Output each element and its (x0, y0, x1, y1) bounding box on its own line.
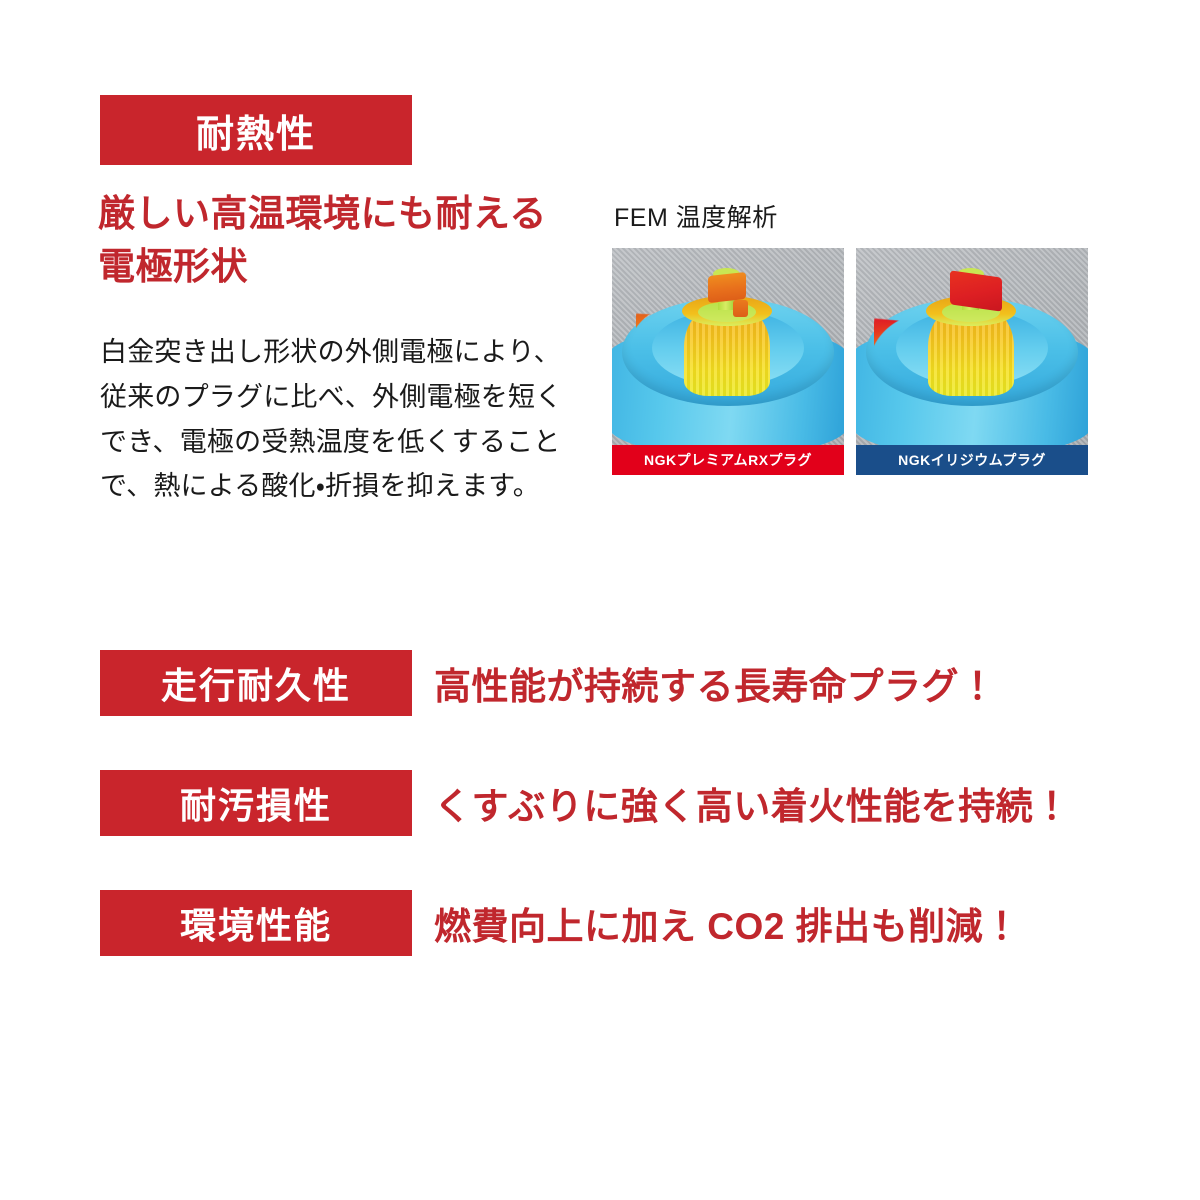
badge-heat-resistance: 耐熱性 (100, 95, 412, 165)
electrode-tip (950, 270, 1002, 311)
fem-caption-rx: NGKプレミアムRXプラグ (612, 445, 844, 475)
fem-title: FEM 温度解析 (614, 198, 1087, 234)
feature-text-0: 高性能が持続する長寿命プラグ！ (434, 656, 997, 710)
feature-row: 環境性能燃費向上に加え CO2 排出も削減！ (100, 890, 1100, 956)
feature-text-1: くすぶりに強く高い着火性能を持続！ (434, 776, 1071, 830)
feature-badge-1: 耐汚損性 (100, 770, 412, 836)
heat-resistance-lead: 厳しい高温環境にも耐える 電極形状 (98, 188, 598, 293)
fem-panel-group: NGKプレミアムRXプラグ NG (612, 248, 1087, 475)
feature-row: 走行耐久性高性能が持続する長寿命プラグ！ (100, 650, 1100, 716)
ground-electrode-rx (634, 262, 746, 366)
heat-resistance-body: 白金突き出し形状の外側電極により、従来のプラグに比べ、外側電極を短くでき、電極の… (100, 330, 584, 509)
feature-text-2: 燃費向上に加え CO2 排出も削減！ (434, 896, 1021, 950)
feature-badge-0: 走行耐久性 (100, 650, 412, 716)
fem-analysis-block: FEM 温度解析 (612, 198, 1087, 475)
feature-list: 走行耐久性高性能が持続する長寿命プラグ！耐汚損性くすぶりに強く高い着火性能を持続… (100, 650, 1100, 1010)
heat-resistance-section: 耐熱性 厳しい高温環境にも耐える 電極形状 白金突き出し形状の外側電極により、従… (0, 0, 1200, 600)
feature-row: 耐汚損性くすぶりに強く高い着火性能を持続！ (100, 770, 1100, 836)
feature-badge-2: 環境性能 (100, 890, 412, 956)
ground-electrode-iridium (874, 266, 1002, 376)
electrode-nub (733, 300, 748, 317)
fem-caption-iridium: NGKイリジウムプラグ (856, 445, 1088, 475)
fem-panel-iridium: NGKイリジウムプラグ (856, 248, 1088, 475)
fem-panel-rx: NGKプレミアムRXプラグ (612, 248, 844, 475)
electrode-tip (708, 272, 746, 303)
fem-thermal-image-iridium (856, 248, 1088, 445)
fem-thermal-image-rx (612, 248, 844, 445)
